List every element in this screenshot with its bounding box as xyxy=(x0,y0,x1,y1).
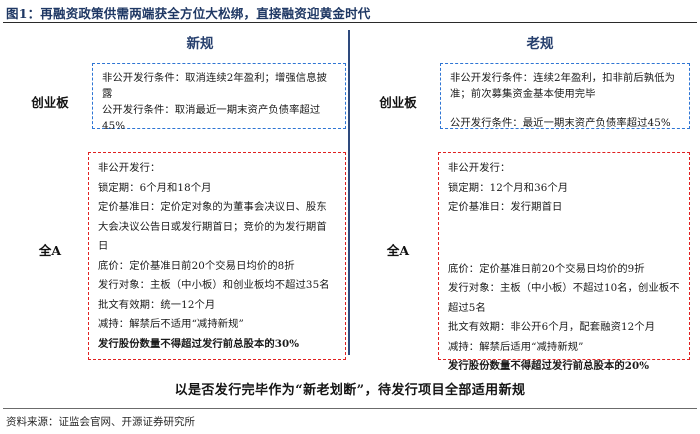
old-rules-chinext-box: 非公开发行条件：连续2年盈利，扣非前后孰低为准；前次募集资金基本使用完毕 公开发… xyxy=(440,63,690,129)
new-rules-chinext-box: 非公开发行条件：取消连续2年盈利；增强信息披露 公开发行条件：取消最近一期末资产… xyxy=(92,63,346,129)
source-label: 资料来源：证监会官网、开源证券研究所 xyxy=(6,414,195,429)
new-all-a-item-6: 减持：解禁后不适用“减持新规” xyxy=(98,315,337,335)
old-chinext-line-1: 非公开发行条件：连续2年盈利，扣非前后孰低为准；前次募集资金基本使用完毕 xyxy=(450,70,681,102)
old-chinext-line-2: 公开发行条件：最近一期末资产负债率超过45% xyxy=(450,115,681,131)
footer-note: 以是否发行完毕作为“新老划断”，待发行项目全部适用新规 xyxy=(0,379,700,398)
title-divider-rule xyxy=(3,22,697,23)
figure-title: 图1：再融资政策供需两端获全方位大松绑，直接融资迎黄金时代 xyxy=(6,3,371,22)
new-all-a-item-3: 底价：定价基准日前20个交易日均价的8折 xyxy=(98,257,337,277)
new-chinext-line-1: 非公开发行条件：取消连续2年盈利；增强信息披露 xyxy=(102,70,337,102)
old-all-a-item-3: 底价：定价基准日前20个交易日均价的9折 xyxy=(448,260,681,280)
old-all-a-item-4: 发行对象：主板（中小板）不超过10名，创业板不超过5名 xyxy=(448,279,681,318)
old-all-a-item-6: 减持：解禁后适用“减持新规” xyxy=(448,338,681,358)
old-all-a-item-1: 锁定期：12个月和36个月 xyxy=(448,179,681,199)
row-label-all-a-old: 全A xyxy=(362,240,434,259)
new-all-a-item-4: 发行对象：主板（中小板）和创业板均不超过35名 xyxy=(98,276,337,296)
footer-divider-rule xyxy=(3,408,697,409)
old-all-a-item-5: 批文有效期：非公开6个月，配套融资12个月 xyxy=(448,318,681,338)
new-all-a-item-2: 定价基准日：定价定对象的为董事会决议日、股东大会决议公告日或发行期首日；竞价的为… xyxy=(98,198,337,257)
old-all-a-item-2: 定价基准日：发行期首日 xyxy=(448,198,681,218)
new-all-a-heading: 非公开发行： xyxy=(98,159,337,179)
new-all-a-highlight: 发行股份数量不得超过发行前总股本的30% xyxy=(98,335,337,355)
old-all-a-heading: 非公开发行： xyxy=(448,159,681,179)
center-vertical-divider xyxy=(348,30,350,355)
old-rules-all-a-box: 非公开发行： 锁定期：12个月和36个月 定价基准日：发行期首日 底价：定价基准… xyxy=(438,152,690,360)
new-chinext-line-2: 公开发行条件：取消最近一期末资产负债率超过45% xyxy=(102,102,337,134)
old-all-a-highlight: 发行股份数量不得超过发行前总股本的20% xyxy=(448,357,681,377)
column-header-new: 新规 xyxy=(150,32,250,52)
row-label-all-a-new: 全A xyxy=(14,240,86,259)
new-all-a-item-1: 锁定期：6个月和18个月 xyxy=(98,179,337,199)
new-all-a-item-5: 批文有效期：统一12个月 xyxy=(98,296,337,316)
row-label-chinext-new: 创业板 xyxy=(14,92,86,111)
new-rules-all-a-box: 非公开发行： 锁定期：6个月和18个月 定价基准日：定价定对象的为董事会决议日、… xyxy=(88,152,346,360)
row-label-chinext-old: 创业板 xyxy=(362,92,434,111)
column-header-old: 老规 xyxy=(490,32,590,52)
